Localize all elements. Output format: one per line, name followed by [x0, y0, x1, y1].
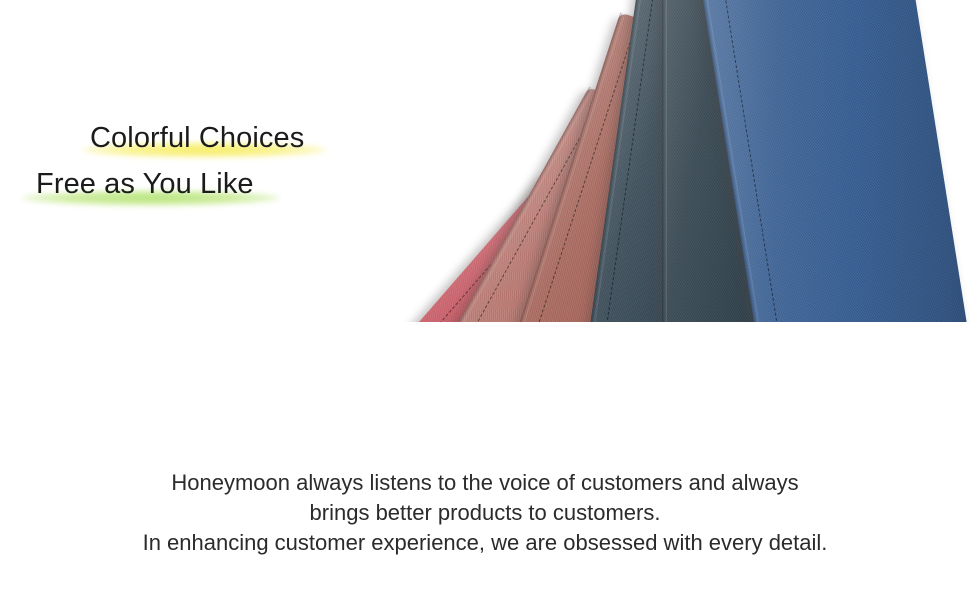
product-banner: Colorful Choices Free as You Like Honeym…: [0, 0, 970, 600]
brand-message-line-2: brings better products to customers.: [0, 498, 970, 528]
headline-text-secondary: Free as You Like: [36, 164, 254, 204]
brand-message-line-1: Honeymoon always listens to the voice of…: [0, 468, 970, 498]
headline-line-2: Free as You Like: [0, 162, 340, 208]
headline-line-1: Colorful Choices: [0, 116, 340, 162]
headline-text-primary: Colorful Choices: [90, 118, 304, 158]
seam-edge: [662, 0, 667, 325]
brand-message-block: Honeymoon always listens to the voice of…: [0, 468, 970, 558]
brand-message-line-3: In enhancing customer experience, we are…: [0, 528, 970, 558]
hero-bottom-crop: [0, 322, 970, 362]
headline-block: Colorful Choices Free as You Like: [0, 116, 340, 208]
